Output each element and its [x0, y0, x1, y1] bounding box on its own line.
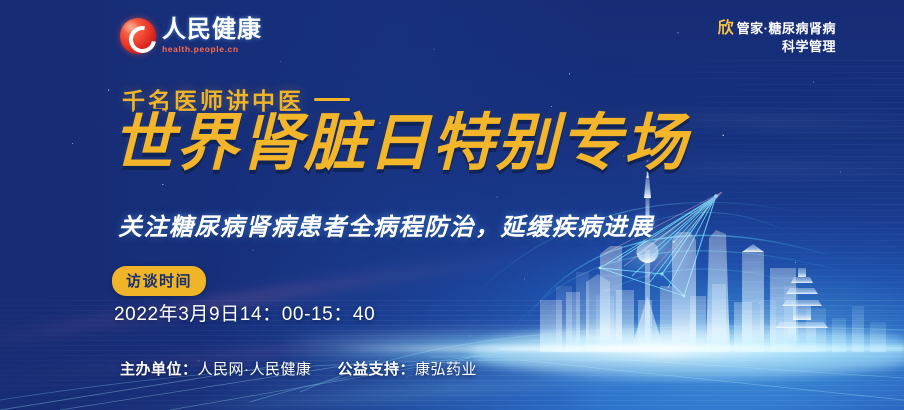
logo-name-en: health.people.cn [162, 45, 262, 54]
kicker-rule [314, 98, 350, 101]
credit-organizer-key: 主办单位： [120, 358, 198, 379]
credits-row: 主办单位： 人民网·人民健康 公益支持： 康弘药业 [120, 358, 477, 379]
logo-name-cn: 人民健康 [162, 18, 262, 42]
credit-organizer-value: 人民网·人民健康 [198, 358, 312, 379]
site-logo[interactable]: 人民健康 health.people.cn [120, 18, 262, 54]
people-health-logo-icon [120, 18, 156, 54]
time-value: 2022年3月9日14：00-15：40 [114, 299, 375, 326]
sponsor-badge: 欣 管家·糖尿病肾病 科学管理 [718, 20, 836, 55]
credit-supporter-value: 康弘药业 [415, 358, 477, 379]
credit-supporter: 公益支持： 康弘药业 [338, 358, 478, 379]
event-banner: 人民健康 health.people.cn 欣 管家·糖尿病肾病 科学管理 千名… [0, 0, 904, 410]
page-title: 世界肾脏日特别专场 [112, 113, 688, 175]
badge-line2: 科学管理 [718, 40, 836, 55]
credit-supporter-key: 公益支持： [338, 358, 416, 379]
badge-line1: 管家·糖尿病肾病 [737, 22, 836, 37]
page-subtitle: 关注糖尿病肾病患者全病程防治，延缓疾病进展 [118, 207, 654, 242]
badge-highlight: 欣 [718, 20, 734, 38]
credit-organizer: 主办单位： 人民网·人民健康 [120, 358, 312, 379]
time-label-badge: 访谈时间 [112, 266, 206, 296]
